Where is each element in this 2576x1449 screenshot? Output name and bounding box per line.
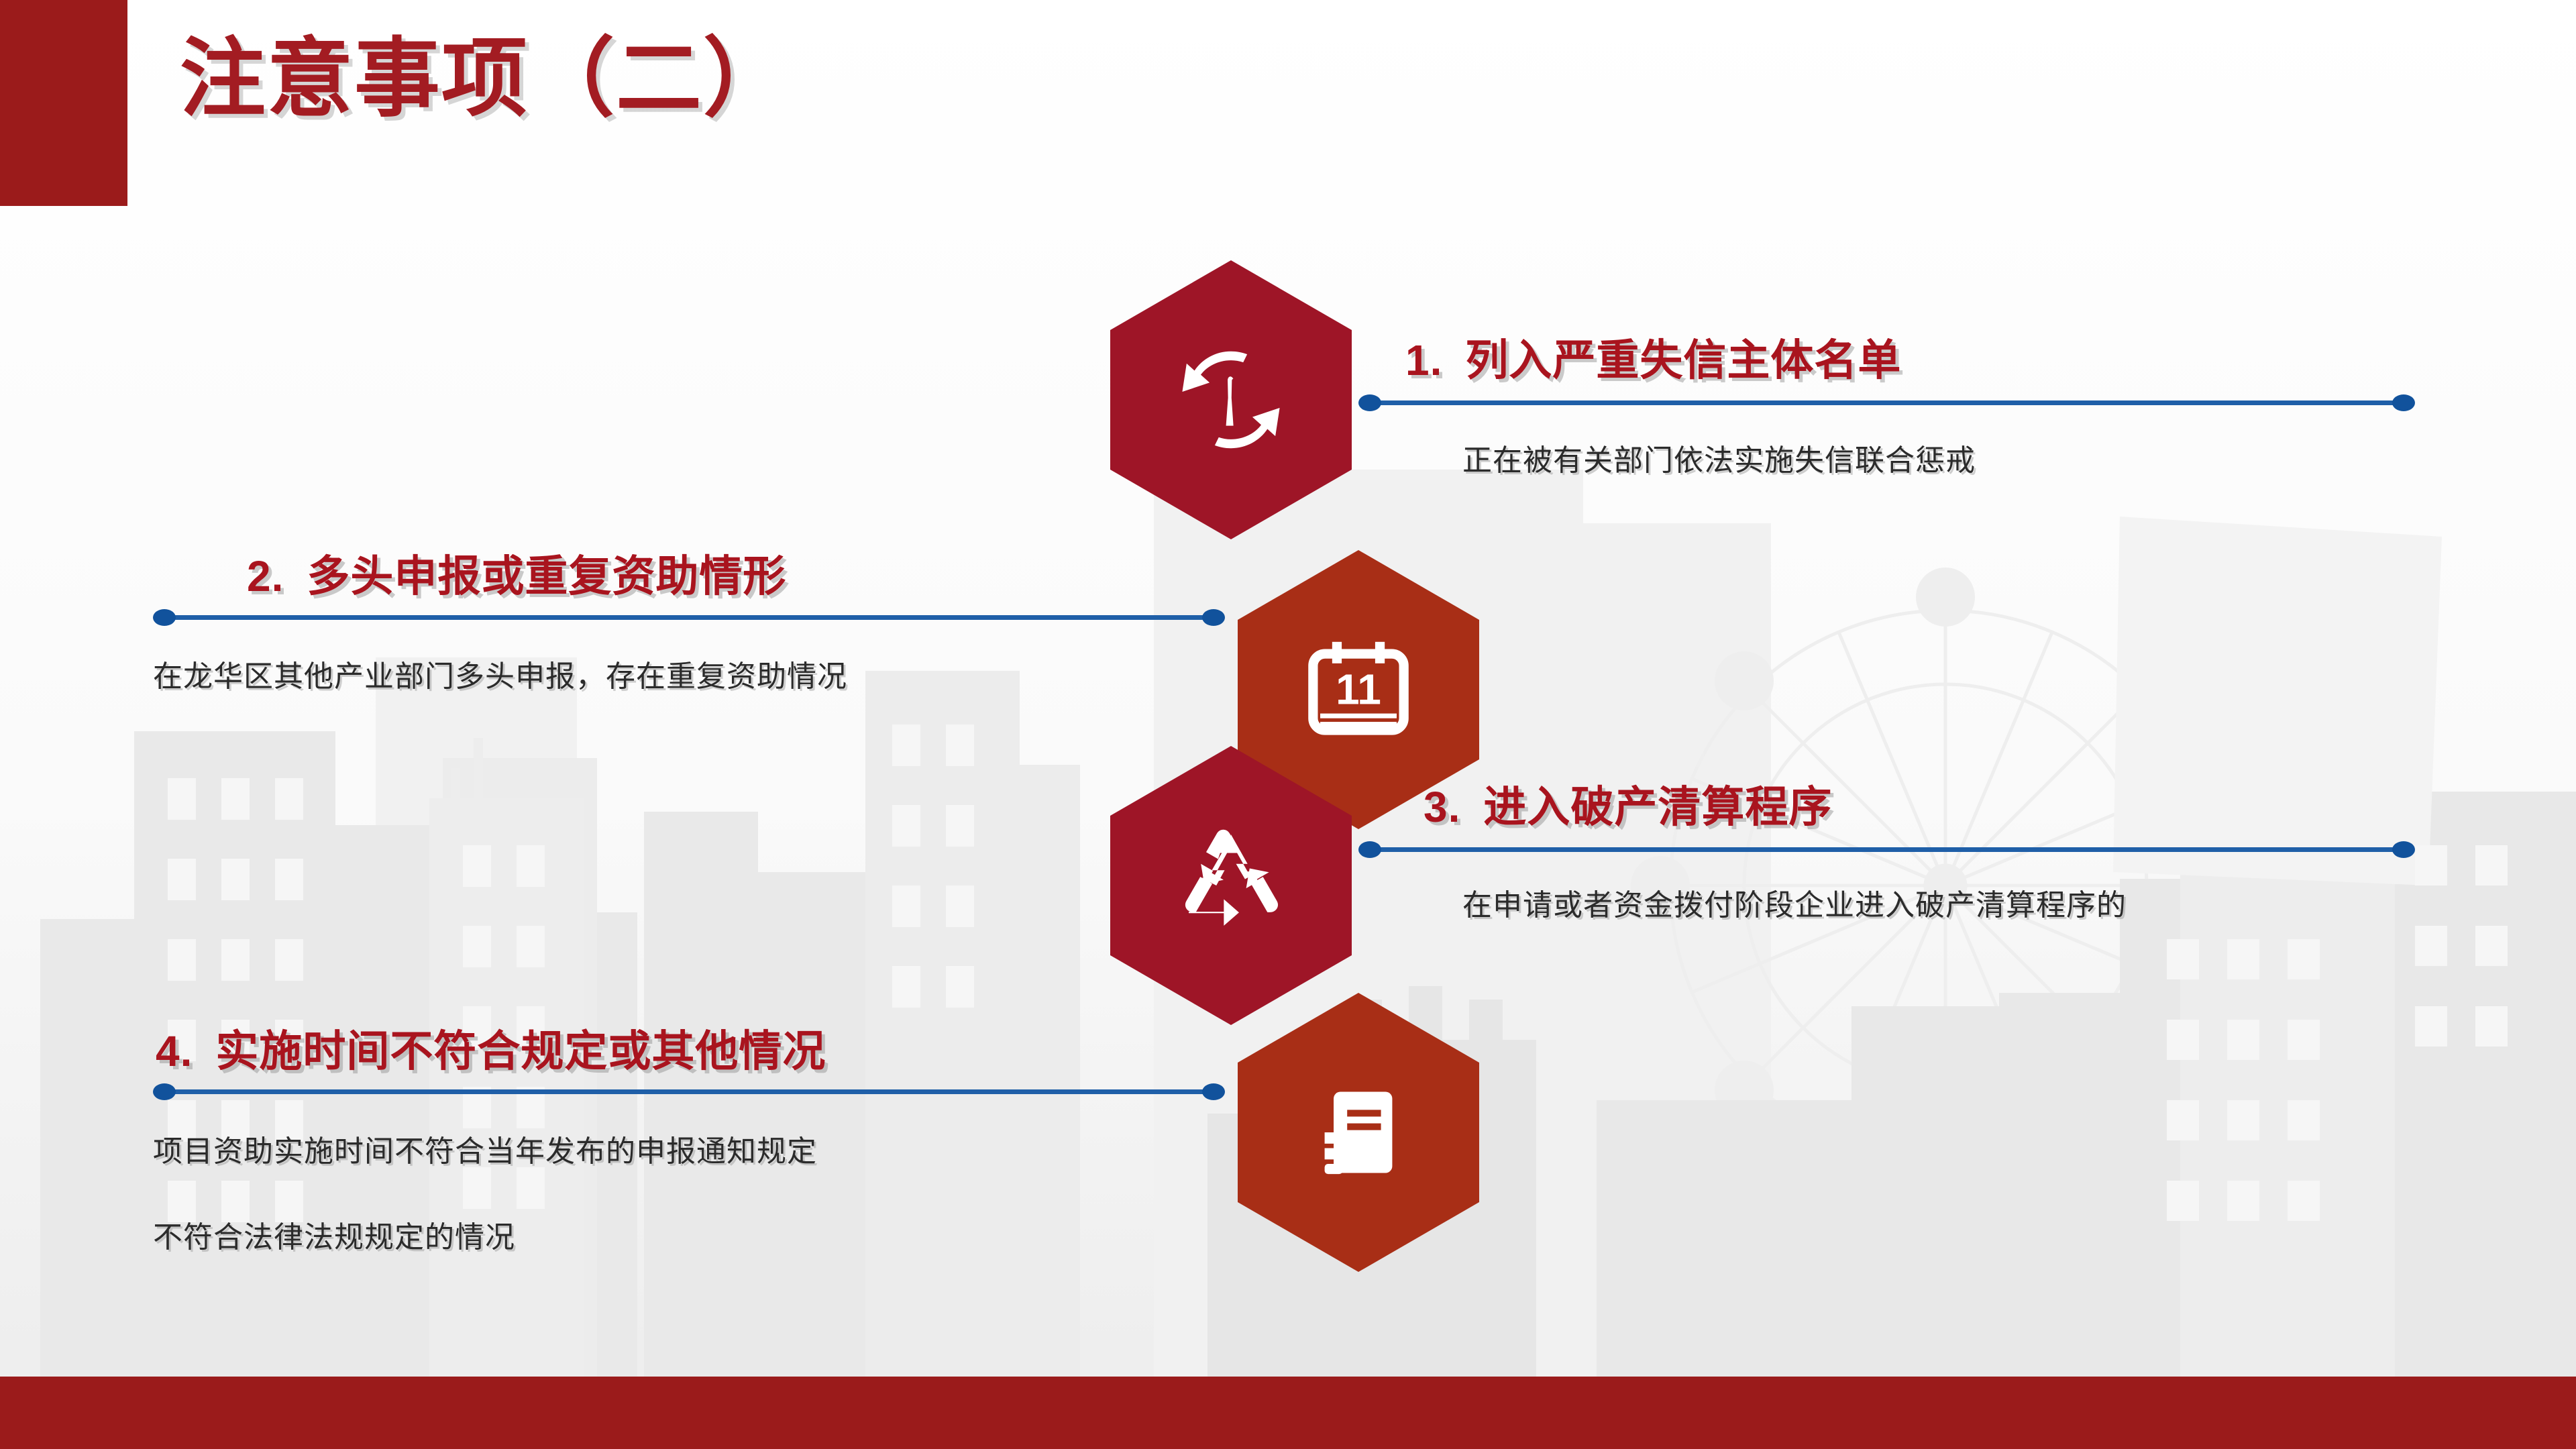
item-subtitle-3: 在申请或者资金拨付阶段企业进入破产清算程序的 [1462, 881, 2127, 924]
item-heading-3: 3.进入破产清算程序 [1424, 773, 1832, 835]
notebook-document-icon [1302, 1076, 1415, 1189]
item-heading-text-2: 多头申报或重复资助情形 [307, 552, 786, 600]
page-title: 注意事项（二） [180, 32, 790, 127]
connector-dot-left [153, 609, 176, 626]
connector-dot-right [2392, 841, 2415, 858]
item-subtitle-4-line1: 项目资助实施时间不符合当年发布的申报通知规定 [153, 1127, 817, 1170]
connector-bar [1365, 400, 2408, 405]
item-heading-2: 2.多头申报或重复资助情形 [247, 542, 786, 604]
item-heading-text-1: 列入严重失信主体名单 [1465, 336, 1901, 384]
connector-dot-right [1202, 609, 1225, 626]
calendar-icon: 11 [1299, 630, 1418, 749]
item-number-4: 4. [156, 1027, 193, 1075]
item-heading-text-3: 进入破产清算程序 [1483, 783, 1832, 831]
connector-bar [160, 615, 1218, 620]
connector-dot-right [2392, 394, 2415, 411]
item-subtitle-2: 在龙华区其他产业部门多头申报，存在重复资助情况 [153, 652, 847, 695]
hex-icon-badge-4 [1238, 993, 1479, 1272]
header-accent-bar [0, 0, 127, 206]
refresh-clock-icon [1167, 336, 1295, 464]
item-heading-1: 1.列入严重失信主体名单 [1405, 326, 1901, 388]
item-heading-4: 4.实施时间不符合规定或其他情况 [156, 1017, 826, 1079]
item-subtitle-1: 正在被有关部门依法实施失信联合惩戒 [1462, 436, 1976, 479]
connector-bar [160, 1089, 1218, 1094]
item-subtitle-4-line2: 不符合法律法规规定的情况 [153, 1213, 515, 1256]
item-number-1: 1. [1405, 336, 1442, 384]
item-number-3: 3. [1424, 783, 1460, 831]
connector-dot-left [1358, 394, 1381, 411]
item-heading-text-4: 实施时间不符合规定或其他情况 [215, 1027, 826, 1075]
slide-canvas: 注意事项（二） 11 [0, 0, 2576, 1449]
hex-icon-badge-1 [1110, 260, 1352, 539]
connector-dot-left [1358, 841, 1381, 858]
connector-bar [1365, 847, 2408, 852]
item-number-2: 2. [247, 552, 284, 600]
footer-accent-bar [0, 1377, 2576, 1449]
connector-dot-left [153, 1083, 176, 1100]
calendar-day-label: 11 [1336, 665, 1381, 713]
connector-dot-right [1202, 1083, 1225, 1100]
recycle-icon [1167, 822, 1295, 949]
